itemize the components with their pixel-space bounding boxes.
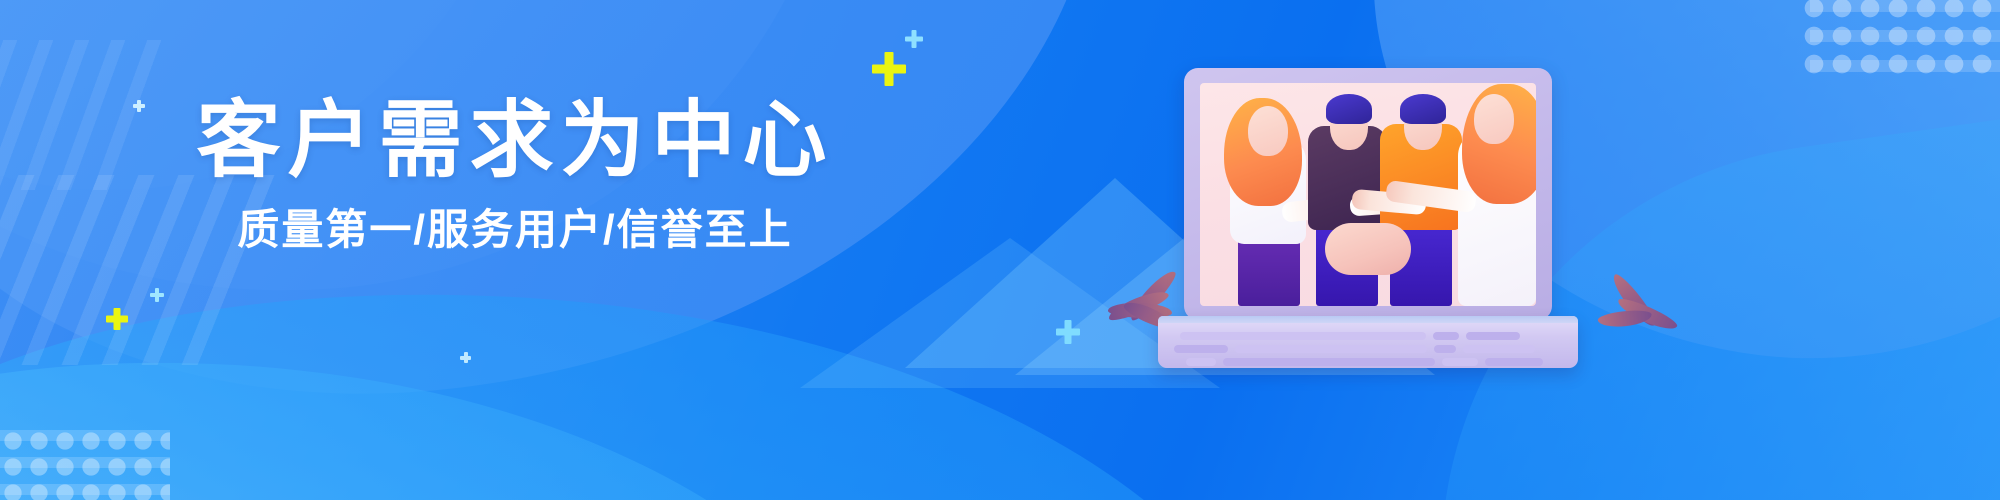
person-woman-left (1222, 83, 1314, 306)
keyboard-row-1 (1180, 332, 1520, 340)
key (1485, 358, 1543, 366)
dot-grid-bottom-left-squares (0, 430, 170, 500)
background-wave-bottom (0, 248, 1315, 500)
leaf-right-3 (1597, 308, 1652, 329)
laptop-screen (1200, 83, 1536, 306)
banner-headline: 客户需求为中心 (0, 96, 1030, 185)
keyboard-row-2 (1174, 345, 1535, 353)
plus-cyan-mid-icon (1056, 320, 1080, 344)
promo-banner: 客户需求为中心 质量第一/服务用户/信誉至上 (0, 0, 2000, 500)
woman-left-head (1248, 106, 1288, 156)
background-wave-bottom-light (0, 306, 929, 500)
laptop-lid (1184, 68, 1552, 320)
banner-subheadline: 质量第一/服务用户/信誉至上 (0, 207, 1030, 253)
key (1442, 358, 1478, 366)
man-left-hair (1326, 94, 1372, 124)
woman-right-head (1474, 94, 1514, 144)
banner-text-block: 客户需求为中心 质量第一/服务用户/信誉至上 (0, 96, 1030, 253)
dot-grid-top-right-squares (1810, 0, 2000, 78)
key (1433, 332, 1459, 340)
dot-grid-top-right-icon (1800, 0, 2000, 78)
dot-grid-bottom-left-icon (0, 428, 170, 500)
plus-cyan-tiny-icon (150, 288, 164, 302)
key (1223, 358, 1435, 366)
key (1186, 358, 1216, 366)
key (1463, 345, 1535, 353)
key (1466, 332, 1520, 340)
plus-white-mini-icon (460, 352, 471, 363)
key (1174, 345, 1228, 353)
person-woman-right (1448, 83, 1536, 306)
keyboard-row-3 (1186, 358, 1543, 366)
stacked-hands (1325, 223, 1411, 275)
key (1434, 345, 1456, 353)
man-right-hair (1400, 94, 1446, 124)
laptop-illustration (1158, 68, 1578, 368)
key (1235, 345, 1427, 353)
plus-yellow-small-icon (106, 308, 128, 330)
plus-cyan-small-icon (905, 30, 923, 48)
key (1180, 332, 1426, 340)
laptop-base (1158, 316, 1578, 368)
plus-yellow-large-icon (872, 52, 906, 86)
